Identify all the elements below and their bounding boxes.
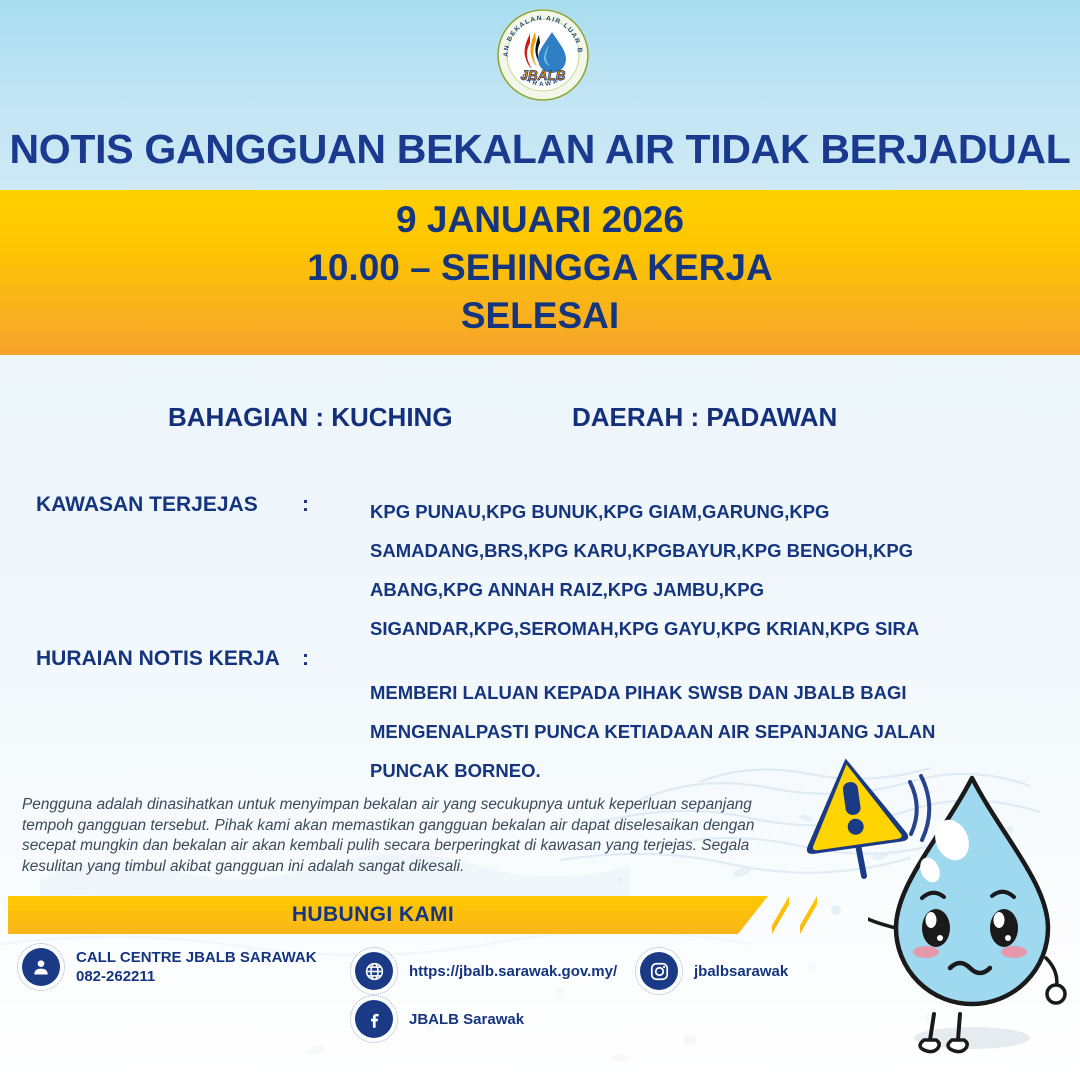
work-description-label: HURAIAN NOTIS KERJA xyxy=(36,647,280,671)
affected-areas-line: ABANG,KPG ANNAH RAIZ,KPG JAMBU,KPG xyxy=(370,570,970,609)
notice-poster: JABATAN BEKALAN AIR LUAR BANDAR SARAWAK … xyxy=(0,0,1080,1080)
work-description-line: MENGENALPASTI PUNCA KETIADAAN AIR SEPANJ… xyxy=(370,712,970,751)
contact-website[interactable]: https://jbalb.sarawak.gov.my/ xyxy=(355,952,617,990)
affected-areas-colon: : xyxy=(302,493,309,517)
work-description-line: MEMBERI LALUAN KEPADA PIHAK SWSB DAN JBA… xyxy=(370,673,970,712)
call-centre-name: CALL CENTRE JBALB SARAWAK xyxy=(76,948,317,967)
contact-heading: HUBUNGI KAMI xyxy=(8,896,738,934)
instagram-handle: jbalbsarawak xyxy=(694,962,788,981)
contact-facebook[interactable]: JBALB Sarawak xyxy=(355,1000,524,1038)
affected-areas-value: KPG PUNAU,KPG BUNUK,KPG GIAM,GARUNG,KPG … xyxy=(370,492,970,648)
call-centre-number: 082-262211 xyxy=(76,967,317,986)
contact-instagram[interactable]: jbalbsarawak xyxy=(640,952,788,990)
contact-call-centre[interactable]: CALL CENTRE JBALB SARAWAK 082-262211 xyxy=(22,948,317,986)
facebook-icon xyxy=(355,1000,393,1038)
call-centre-text: CALL CENTRE JBALB SARAWAK 082-262211 xyxy=(76,948,317,986)
jbalb-logo: JABATAN BEKALAN AIR LUAR BANDAR SARAWAK … xyxy=(496,8,590,102)
water-droplet-mascot xyxy=(868,762,1080,1062)
division-label: BAHAGIAN : KUCHING xyxy=(168,402,453,433)
district-label: DAERAH : PADAWAN xyxy=(572,402,837,433)
affected-areas-label: KAWASAN TERJEJAS xyxy=(36,493,258,517)
facebook-page: JBALB Sarawak xyxy=(409,1010,524,1029)
person-icon xyxy=(22,948,60,986)
disclaimer-text: Pengguna adalah dinasihatkan untuk menyi… xyxy=(22,795,782,877)
instagram-icon xyxy=(640,952,678,990)
notice-date: 9 JANUARI 2026 xyxy=(0,196,1080,244)
affected-areas-line: SAMADANG,BRS,KPG KARU,KPGBAYUR,KPG BENGO… xyxy=(370,531,970,570)
page-title: NOTIS GANGGUAN BEKALAN AIR TIDAK BERJADU… xyxy=(0,126,1080,173)
date-time-text: 9 JANUARI 2026 10.00 – SEHINGGA KERJA SE… xyxy=(0,196,1080,340)
notice-time-cont: SELESAI xyxy=(0,292,1080,340)
website-url: https://jbalb.sarawak.gov.my/ xyxy=(409,962,617,981)
globe-icon xyxy=(355,952,393,990)
work-description-colon: : xyxy=(302,647,309,671)
svg-text:JBALB: JBALB xyxy=(520,68,565,83)
affected-areas-line: SIGANDAR,KPG,SEROMAH,KPG GAYU,KPG KRIAN,… xyxy=(370,609,970,648)
affected-areas-line: KPG PUNAU,KPG BUNUK,KPG GIAM,GARUNG,KPG xyxy=(370,492,970,531)
notice-time: 10.00 – SEHINGGA KERJA xyxy=(0,244,1080,292)
